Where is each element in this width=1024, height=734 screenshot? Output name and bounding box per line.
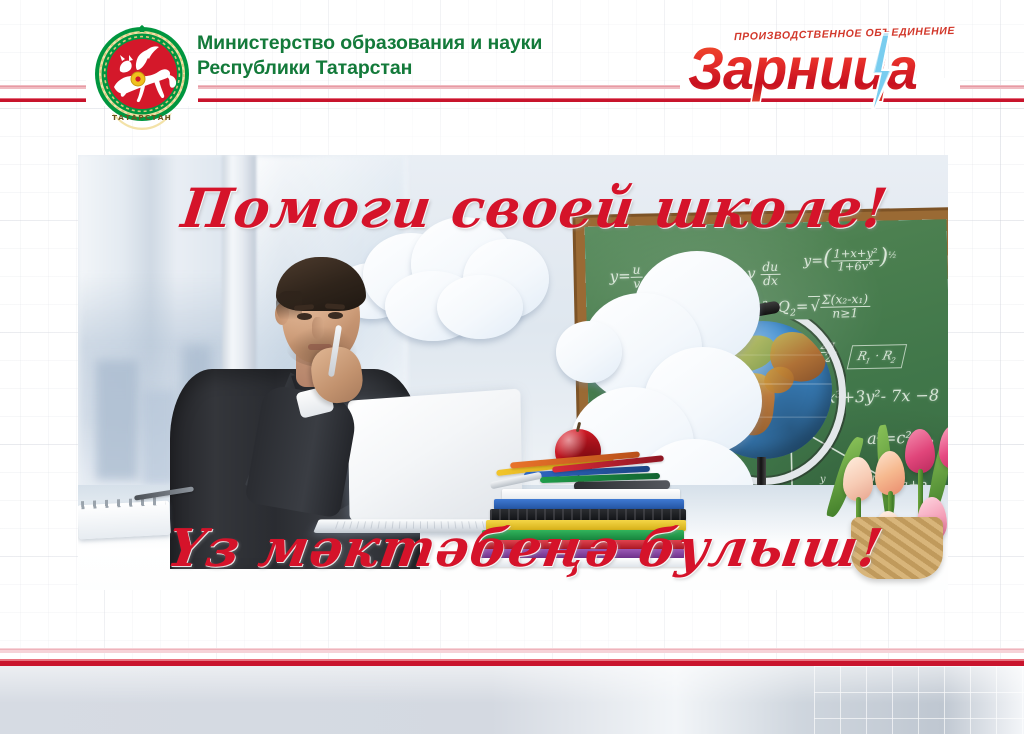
headline-tatar: Үз мәктәбеңә булыш! [163,518,887,579]
ministry-title-line1: Министерство образования и науки [197,31,542,56]
chalk-formula: y=(1+x+y²1+6v°)½ [803,244,897,273]
footer-rule-pink [0,648,1024,653]
emblem-caption: ТАТАРСТАН [112,113,172,122]
notepad [78,501,171,540]
poster-root: ТАТАРСТАН Министерство образования и нау… [0,0,1024,734]
chalk-boxed-formula: R1 · R2 [847,344,908,370]
nose [312,317,324,339]
zarnica-logo: ПРОИЗВОДСТВЕННОЕ ОБЪЕДИНЕНИЕ Зарница Зар… [688,26,950,104]
lightning-bolt-icon [866,32,896,118]
ministry-title-line2: Республики Татарстан [197,56,542,81]
tatarstan-coat-of-arms-icon: ТАТАРСТАН [94,21,190,133]
eye [297,313,312,320]
headline-russian: Помоги своей школе! [178,176,892,240]
footer-band-sheen [0,666,1024,734]
ministry-title: Министерство образования и науки Республ… [197,31,542,81]
eye [328,312,343,319]
city-building [96,360,138,480]
